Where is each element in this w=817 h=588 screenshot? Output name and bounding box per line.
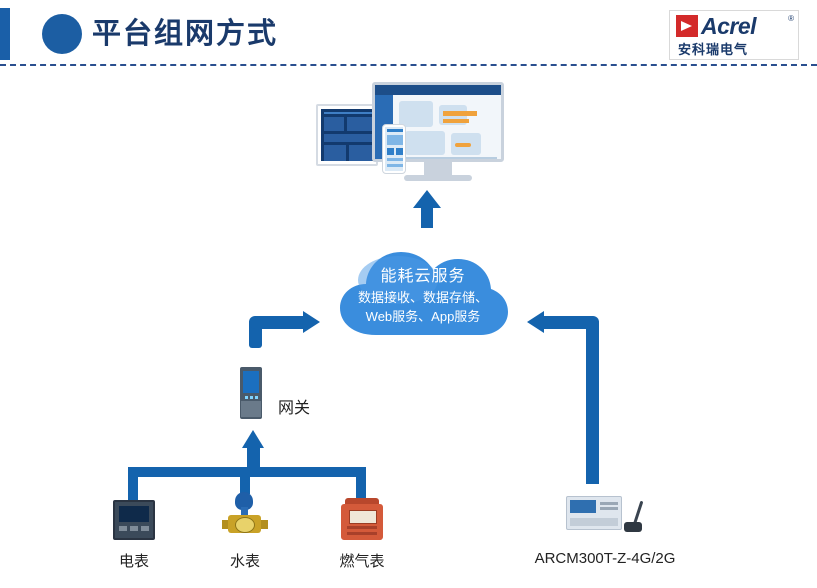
cloud-subtitle: 数据接收、数据存储、 Web服务、App服务 [336, 288, 510, 326]
tablet-screen [321, 109, 373, 161]
arrow-arcm-to-cloud-head [527, 311, 544, 333]
electric-meter-label: 电表 [94, 550, 174, 571]
antenna-rod [633, 501, 643, 525]
electric-meter-display [119, 506, 149, 522]
gas-meter-label: 燃气表 [322, 550, 402, 571]
antenna-base [624, 522, 642, 532]
gateway-device [236, 367, 268, 419]
cloud-subtitle-line2: Web服务、App服务 [336, 307, 510, 326]
acrel-logo-text: Acrel [701, 13, 756, 40]
arrow-bus-to-gateway-head [242, 430, 264, 448]
gateway-label: 网关 [278, 394, 310, 418]
monitor-stand [424, 162, 452, 176]
cloud-title: 能耗云服务 [336, 262, 510, 286]
arrow-gateway-to-cloud-head [303, 311, 320, 333]
water-meter-label: 水表 [205, 550, 285, 571]
water-meter-dial [235, 517, 255, 533]
acrel-logo: Acrel ® 安科瑞电气 [669, 10, 799, 60]
bus-drop-gas [356, 467, 366, 500]
gateway-base [241, 401, 261, 417]
arcm-label: ARCM300T-Z-4G/2G [500, 550, 710, 567]
gas-meter-display [349, 510, 377, 524]
water-meter-device [222, 492, 268, 538]
header-bullet-icon [42, 14, 82, 54]
header-divider [0, 64, 817, 66]
monitor-base [404, 175, 472, 181]
phone-screen [385, 127, 403, 171]
arrow-arcm-to-cloud-horizontal [544, 316, 599, 329]
acrel-logo-mark-icon [676, 15, 698, 37]
page-title: 平台组网方式 [92, 14, 278, 54]
cloud-subtitle-line1: 数据接收、数据存储、 [336, 288, 510, 307]
electric-meter-device [113, 500, 155, 540]
cloud-service-node: 能耗云服务 数据接收、数据存储、 Web服务、App服务 [336, 240, 510, 345]
page-header: 平台组网方式 Acrel ® 安科瑞电气 [0, 0, 817, 68]
arrow-cloud-to-screens-head [413, 190, 441, 208]
mobile-phone [382, 124, 406, 174]
arcm-display [570, 500, 596, 513]
acrel-logo-chinese: 安科瑞电气 [678, 39, 748, 58]
tablet-device [316, 104, 378, 166]
gas-meter-device [341, 498, 383, 540]
arrow-arcm-to-cloud-vertical [586, 322, 599, 484]
registered-mark: ® [788, 14, 794, 23]
header-accent-bar [0, 8, 10, 60]
gateway-panel [243, 371, 259, 393]
bus-drop-water [240, 467, 250, 494]
water-meter-pipe-right [260, 520, 268, 529]
arrow-gateway-to-cloud-horizontal [249, 316, 307, 329]
bus-drop-electric [128, 467, 138, 500]
monitor-map-view [393, 95, 501, 159]
arcm-device [566, 496, 622, 532]
arcm-antenna-icon [622, 500, 644, 532]
monitor-titlebar [375, 85, 501, 95]
